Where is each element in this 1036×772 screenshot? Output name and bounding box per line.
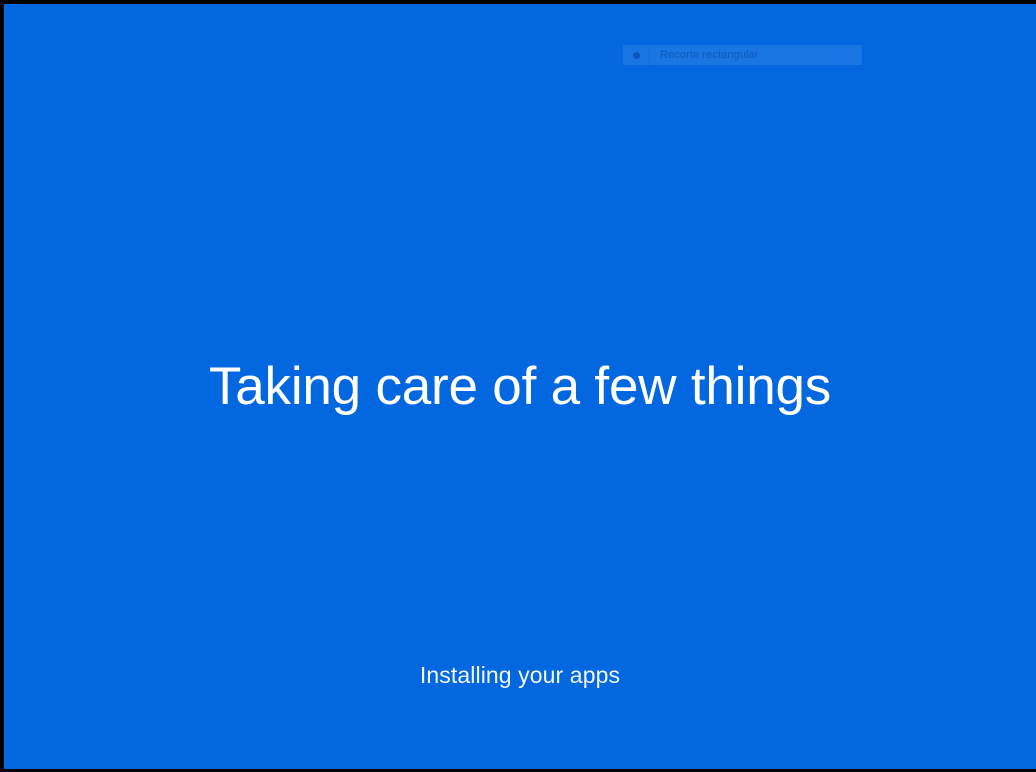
screen-frame: Taking care of a few things Installing y… [0, 0, 1036, 772]
record-dot-icon [633, 52, 640, 59]
snip-mode-label[interactable]: Recorte rectangular [650, 45, 862, 65]
status-text: Installing your apps [4, 662, 1036, 689]
snipping-tool-overlay-toolbar[interactable]: Recorte rectangular [623, 45, 862, 65]
setup-status-block: Taking care of a few things Installing y… [4, 4, 1036, 769]
oobe-setup-screen: Taking care of a few things Installing y… [4, 4, 1036, 769]
page-title: Taking care of a few things [4, 356, 1036, 419]
snip-icon-cell[interactable] [623, 45, 649, 65]
